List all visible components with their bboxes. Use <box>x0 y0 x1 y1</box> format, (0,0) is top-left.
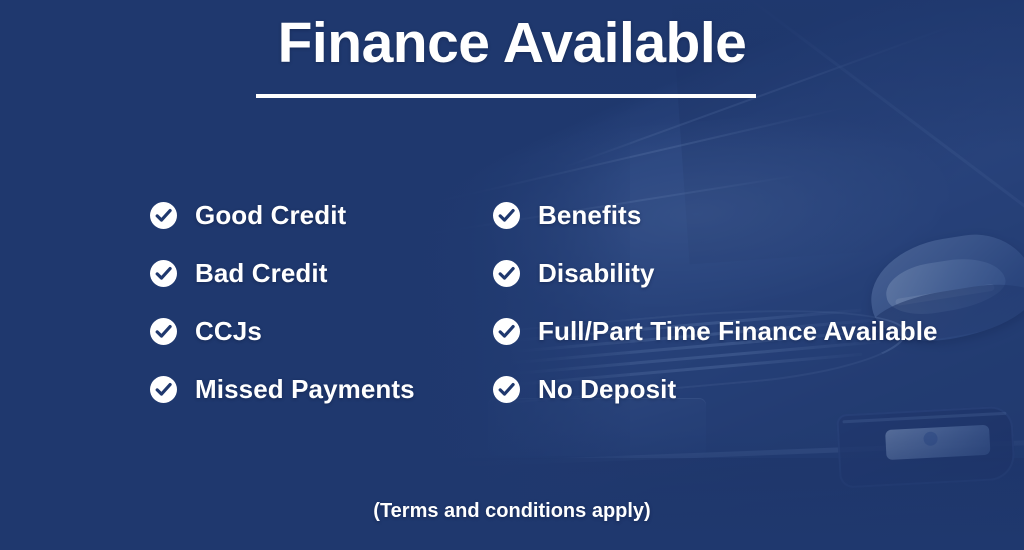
benefit-label: Full/Part Time Finance Available <box>538 316 938 347</box>
list-item: Benefits <box>493 186 938 244</box>
list-item: Good Credit <box>150 186 415 244</box>
title-underline-rule <box>256 94 756 98</box>
benefit-label: Disability <box>538 258 655 289</box>
check-circle-icon <box>150 376 177 403</box>
benefit-label: Good Credit <box>195 200 346 231</box>
check-circle-icon <box>493 318 520 345</box>
check-circle-icon <box>493 202 520 229</box>
check-circle-icon <box>150 260 177 287</box>
list-item: CCJs <box>150 302 415 360</box>
list-item: Missed Payments <box>150 360 415 418</box>
benefit-label: Bad Credit <box>195 258 327 289</box>
banner-content: Finance Available Good Credit Bad C <box>0 0 1024 550</box>
benefit-label: Missed Payments <box>195 374 415 405</box>
benefits-left-column: Good Credit Bad Credit CCJs <box>150 186 415 418</box>
terms-and-conditions-note: (Terms and conditions apply) <box>0 500 1024 523</box>
list-item: Bad Credit <box>150 244 415 302</box>
benefit-label: Benefits <box>538 200 641 231</box>
list-item: Full/Part Time Finance Available <box>493 302 938 360</box>
page-title: Finance Available <box>0 12 1024 76</box>
check-circle-icon <box>150 202 177 229</box>
benefits-right-column: Benefits Disability Full/Part Time Finan… <box>493 186 938 418</box>
check-circle-icon <box>493 376 520 403</box>
finance-available-banner: Finance Available Good Credit Bad C <box>0 0 1024 550</box>
benefit-label: CCJs <box>195 316 262 347</box>
check-circle-icon <box>493 260 520 287</box>
list-item: Disability <box>493 244 938 302</box>
check-circle-icon <box>150 318 177 345</box>
list-item: No Deposit <box>493 360 938 418</box>
benefits-list: Good Credit Bad Credit CCJs <box>0 186 1024 400</box>
benefit-label: No Deposit <box>538 374 676 405</box>
